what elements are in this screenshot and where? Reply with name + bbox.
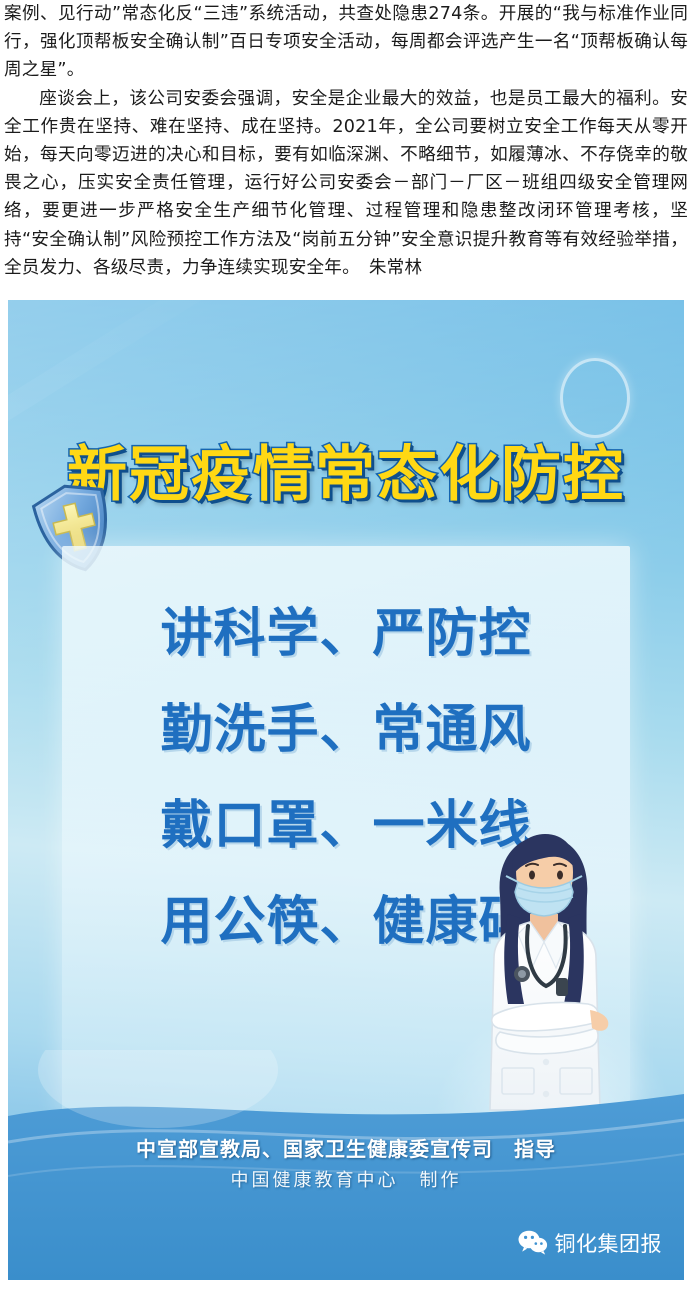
article-body: 案例、见行动”常态化反“三违”系统活动，共查处隐患274条。开展的“我与标准作业… bbox=[0, 0, 692, 282]
covid-prevention-poster: 新冠疫情常态化防控 讲科学、严防控 勤 bbox=[8, 300, 684, 1280]
wechat-icon bbox=[518, 1230, 548, 1256]
wechat-account-name: 铜化集团报 bbox=[555, 1228, 663, 1258]
poster-credit-main: 中宣部宣教局、国家卫生健康委宣传司 指导 bbox=[8, 1133, 684, 1162]
light-streak-decoration bbox=[8, 300, 234, 439]
wechat-account-badge[interactable]: 铜化集团报 bbox=[518, 1228, 663, 1258]
poster-title: 新冠疫情常态化防控 bbox=[8, 426, 684, 513]
article-paragraph: 案例、见行动”常态化反“三违”系统活动，共查处隐患274条。开展的“我与标准作业… bbox=[4, 0, 688, 85]
article-paragraph: 座谈会上，该公司安委会强调，安全是企业最大的效益，也是员工最大的福利。安全工作贵… bbox=[4, 85, 688, 282]
poster-credit-sub: 中国健康教育中心 制作 bbox=[8, 1166, 684, 1192]
poster-background: 新冠疫情常态化防控 讲科学、严防控 勤 bbox=[8, 300, 684, 1280]
